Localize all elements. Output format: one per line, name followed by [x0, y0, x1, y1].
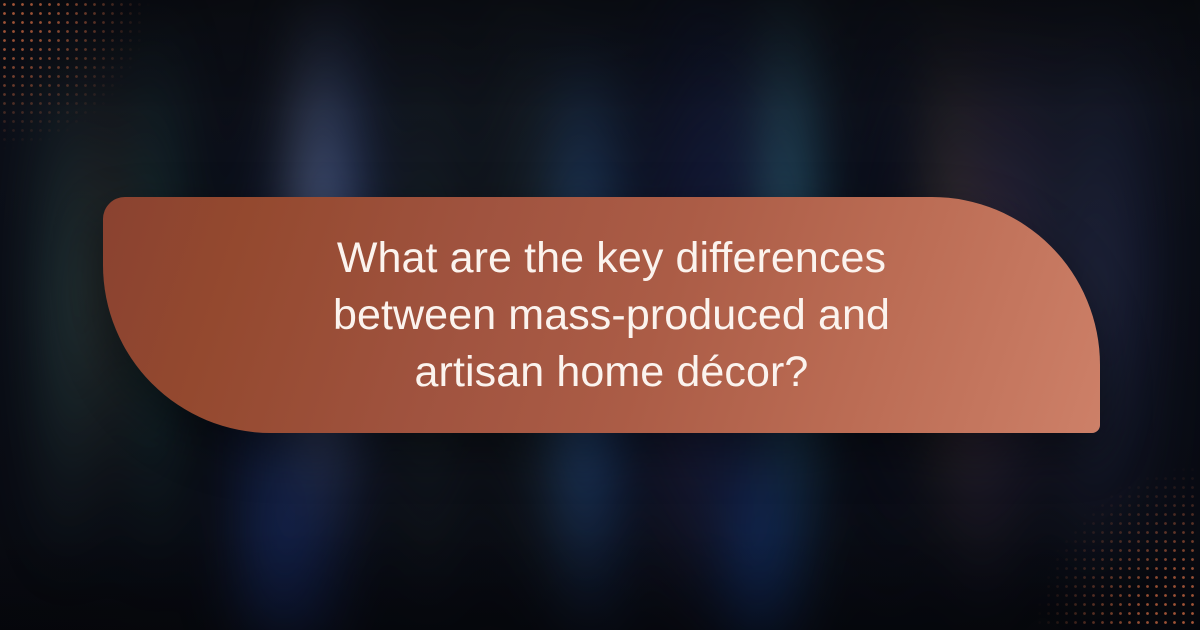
poster-canvas: What are the key differences between mas… [0, 0, 1200, 630]
question-card-content: What are the key differences between mas… [103, 230, 1100, 401]
question-text: What are the key differences between mas… [267, 230, 957, 401]
question-card: What are the key differences between mas… [103, 197, 1100, 433]
